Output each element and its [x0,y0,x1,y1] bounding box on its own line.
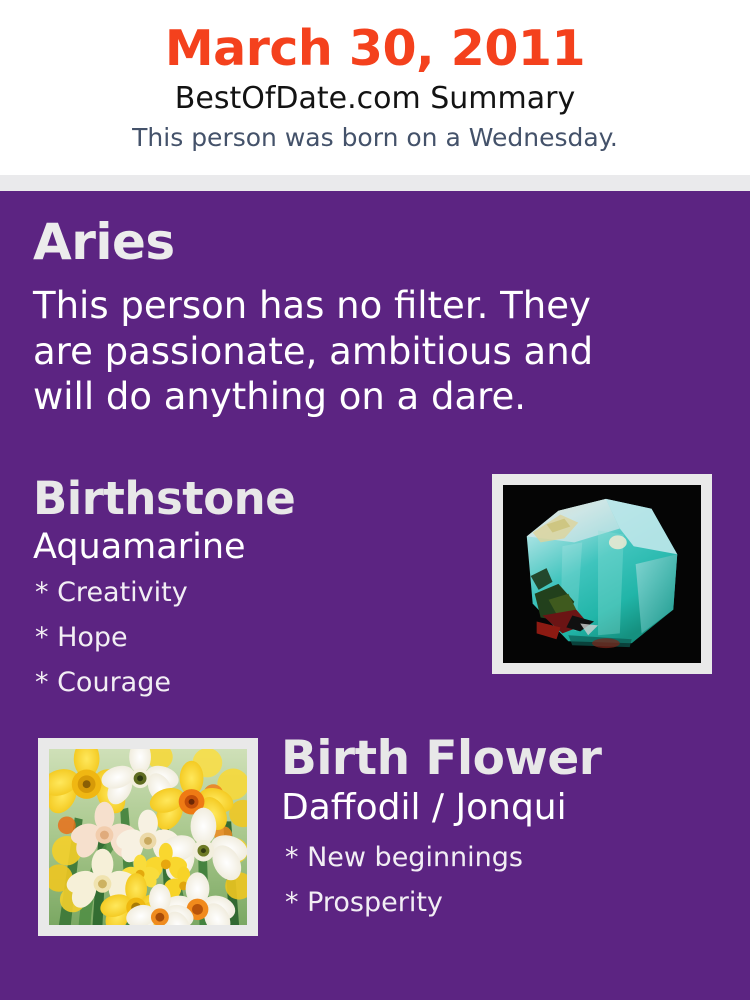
birthstone-image-frame [492,474,712,674]
aquamarine-crystal-icon [503,485,701,663]
birth-flower-heading: Birth Flower [281,735,731,782]
list-item: * Hope [33,616,473,661]
birth-flower-section: Birth Flower Daffodil / Jonqui * New beg… [281,735,731,926]
list-item: * New beginnings [281,836,731,881]
birthstone-trait-list: * Creativity * Hope * Courage [33,565,473,705]
birth-flower-image-frame [38,738,258,936]
header: March 30, 2011 BestOfDate.com Summary Th… [0,0,750,175]
main-content: Aries This person has no filter. They ar… [0,191,750,1000]
date-summary-card: March 30, 2011 BestOfDate.com Summary Th… [0,0,750,1000]
birthstone-name: Aquamarine [33,521,473,565]
zodiac-sign-name: Aries [33,217,673,267]
list-item: * Courage [33,661,473,706]
daffodil-flowers-photo [49,749,247,925]
born-day-note: This person was born on a Wednesday. [0,114,750,150]
site-summary-label: BestOfDate.com Summary [0,73,750,114]
zodiac-description: This person has no filter. They are pass… [33,267,653,420]
daffodil-flowers-icon [49,749,247,925]
zodiac-section: Aries This person has no filter. They ar… [33,217,673,420]
birthstone-section: Birthstone Aquamarine * Creativity * Hop… [33,476,473,705]
birth-flower-trait-list: * New beginnings * Prosperity [281,826,731,926]
birthstone-heading: Birthstone [33,476,473,521]
list-item: * Prosperity [281,881,731,926]
list-item: * Creativity [33,571,473,616]
page-title: March 30, 2011 [0,0,750,73]
birth-flower-name: Daffodil / Jonqui [281,782,731,826]
aquamarine-crystal-photo [503,485,701,663]
header-divider [0,175,750,191]
